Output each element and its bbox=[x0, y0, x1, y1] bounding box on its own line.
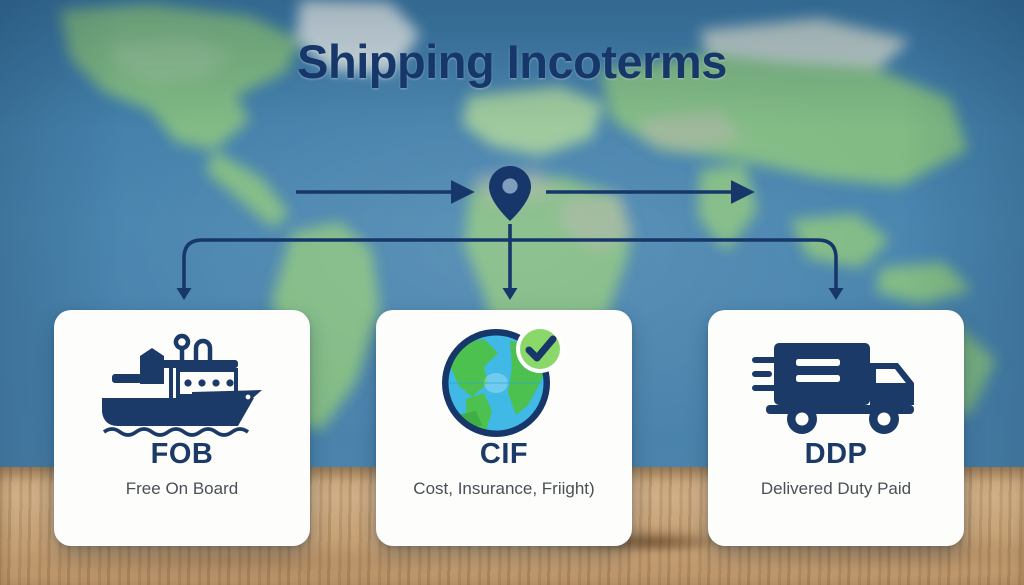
cargo-ship-icon bbox=[96, 322, 268, 440]
card-description: Cost, Insurance, Friight) bbox=[413, 480, 594, 497]
incoterm-card-cif[interactable]: CIF Cost, Insurance, Friight) bbox=[376, 310, 632, 546]
delivery-truck-icon bbox=[752, 327, 920, 435]
globe-check-icon bbox=[436, 319, 572, 443]
incoterm-card-ddp[interactable]: DDP Delivered Duty Paid bbox=[708, 310, 964, 546]
infographic-canvas: Shipping Incoterms bbox=[0, 0, 1024, 585]
location-pin-icon bbox=[489, 166, 531, 221]
branch-arrow-center bbox=[503, 288, 518, 300]
card-description: Free On Board bbox=[126, 480, 238, 497]
card-code: FOB bbox=[151, 440, 214, 469]
card-icon-slot bbox=[708, 310, 964, 440]
card-code: DDP bbox=[805, 440, 868, 469]
branch-arrow-right bbox=[829, 288, 844, 300]
card-icon-slot bbox=[376, 310, 632, 440]
branch-arrow-left bbox=[177, 288, 192, 300]
card-code: CIF bbox=[480, 440, 528, 469]
incoterm-card-fob[interactable]: FOB Free On Board bbox=[54, 310, 310, 546]
incoterm-card-row: FOB Free On Board bbox=[0, 310, 1024, 546]
card-icon-slot bbox=[54, 310, 310, 440]
card-description: Delivered Duty Paid bbox=[761, 480, 911, 497]
